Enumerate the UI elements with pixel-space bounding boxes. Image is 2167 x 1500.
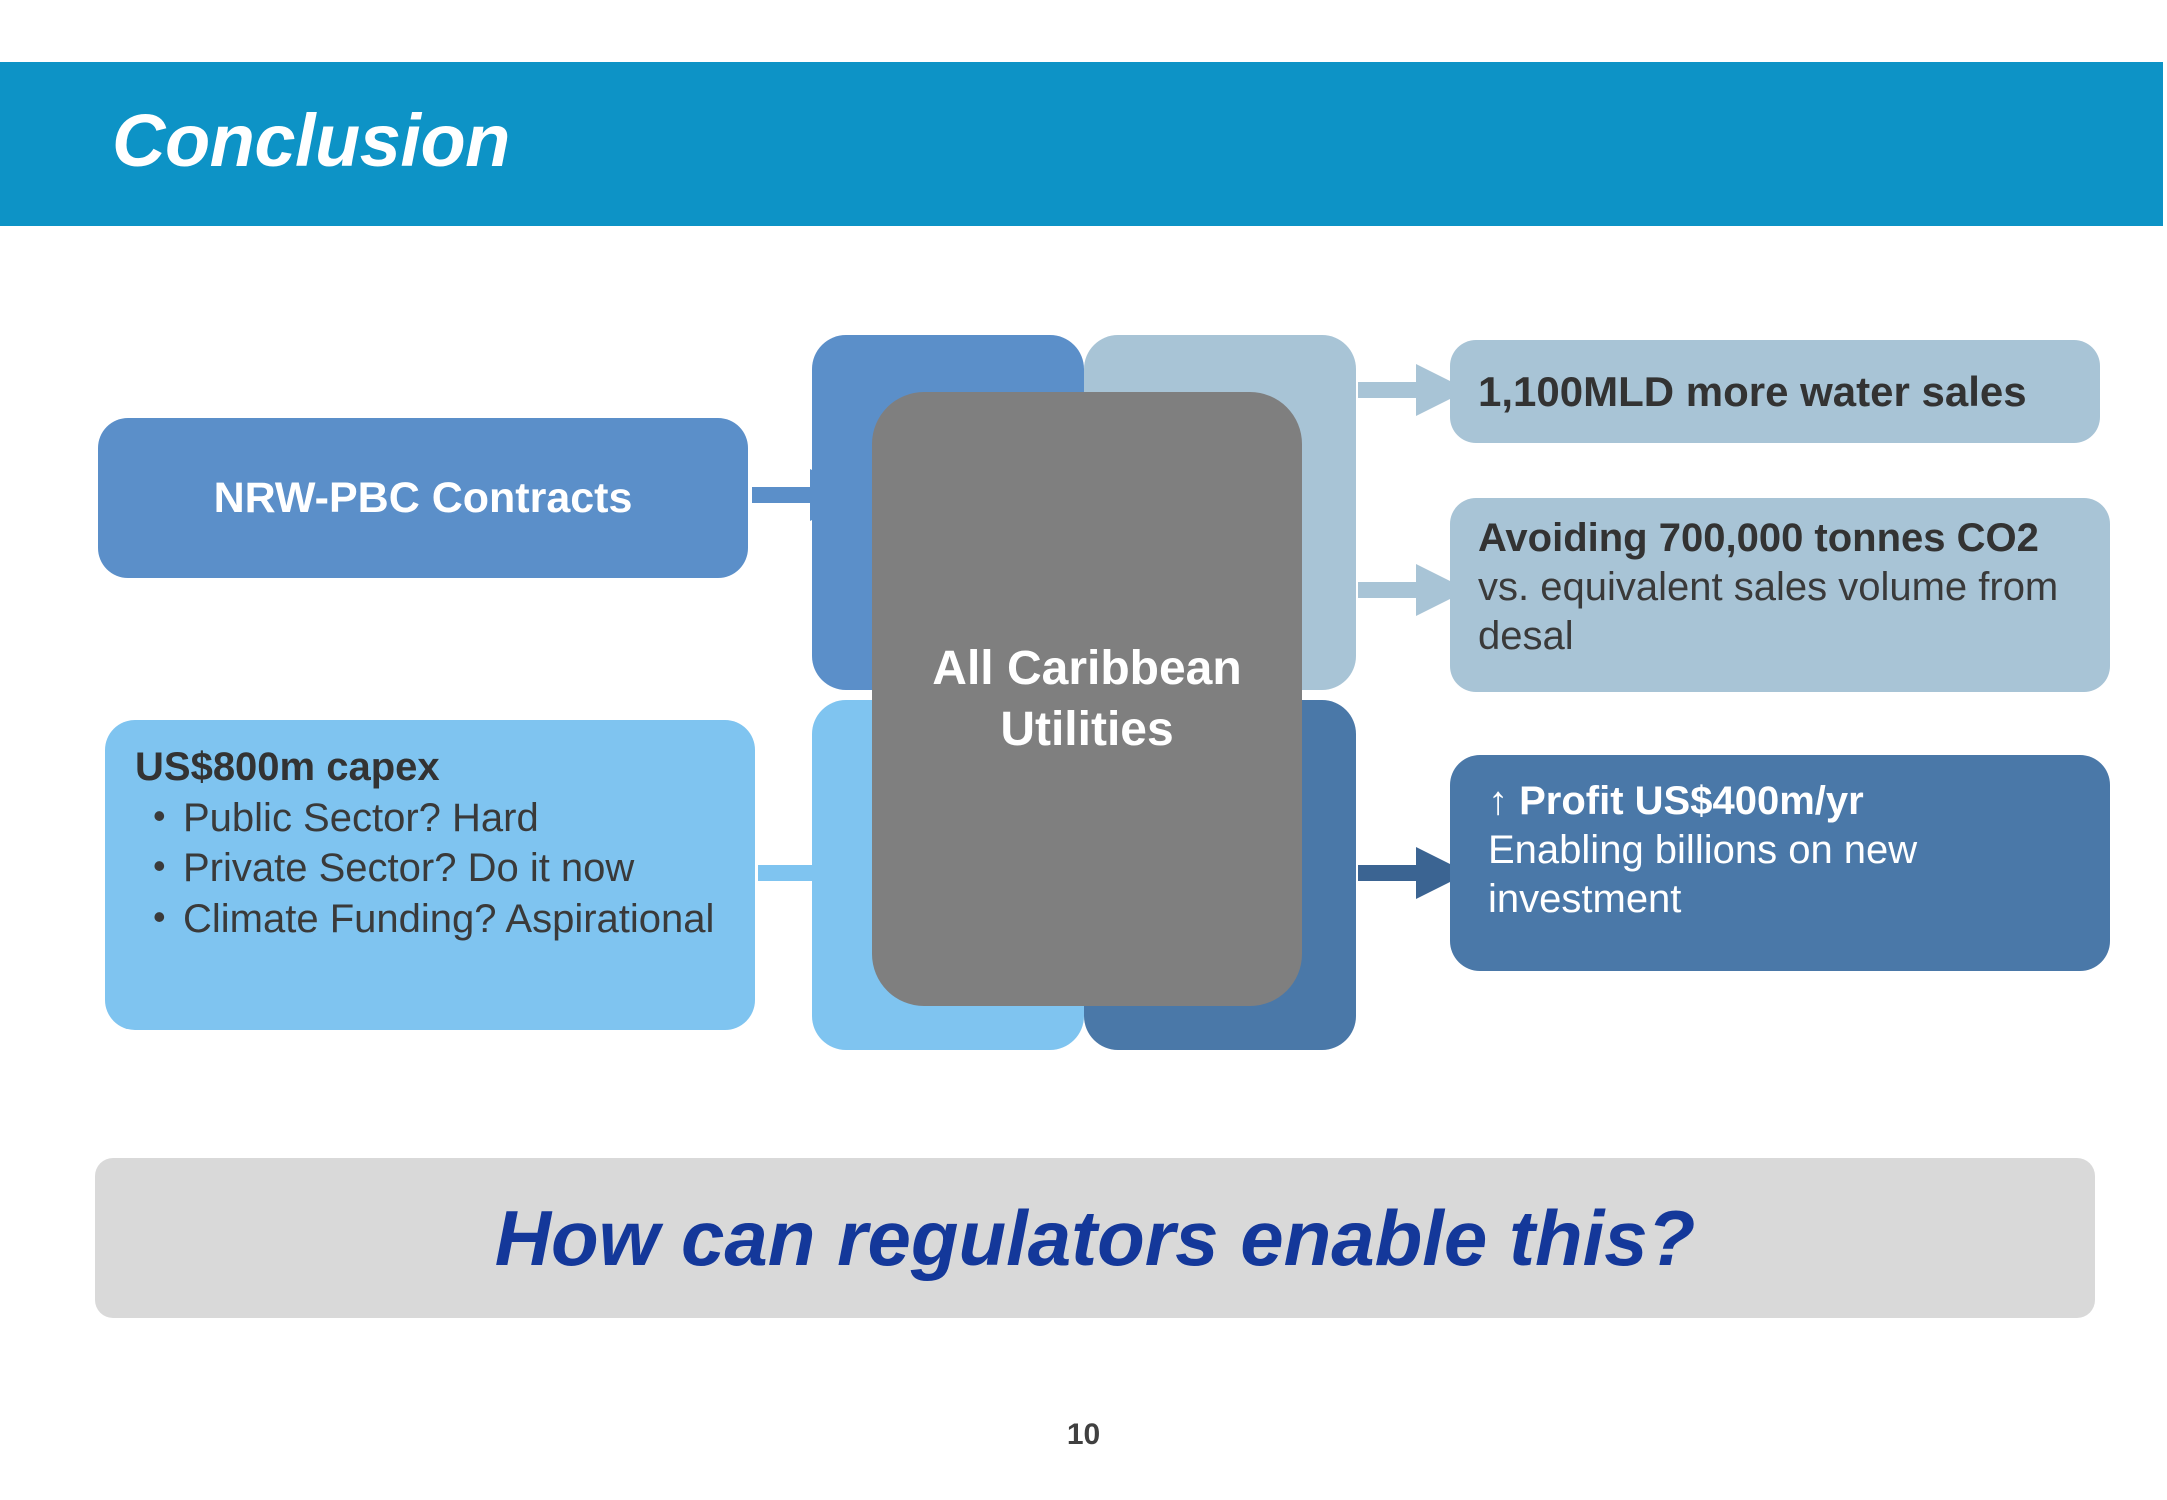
profit-bold-text: ↑ Profit US$400m/yr	[1488, 777, 2088, 826]
title-banner: Conclusion	[0, 62, 2163, 226]
node-capex[interactable]: US$800m capex Public Sector? Hard Privat…	[105, 720, 755, 1030]
co2-normal-text: vs. equivalent sales volume from desal	[1478, 565, 2058, 658]
co2-bold-text: Avoiding 700,000 tonnes CO2	[1478, 516, 2039, 560]
node-nrw-pbc-label: NRW-PBC Contracts	[214, 474, 633, 523]
arrow-stem	[1358, 865, 1420, 881]
node-profit[interactable]: ↑ Profit US$400m/yr Enabling billions on…	[1450, 755, 2110, 971]
node-co2-avoided[interactable]: Avoiding 700,000 tonnes CO2 vs. equivale…	[1450, 498, 2110, 692]
list-item: Public Sector? Hard	[183, 795, 729, 842]
slide-canvas: Conclusion NRW-PBC Contracts US$800m cap…	[0, 0, 2167, 1500]
list-item: Climate Funding? Aspirational	[183, 896, 729, 943]
node-nrw-pbc-contracts[interactable]: NRW-PBC Contracts	[98, 418, 748, 578]
footer-banner: How can regulators enable this?	[95, 1158, 2095, 1318]
node-all-caribbean-utilities[interactable]: All Caribbean Utilities	[872, 392, 1302, 1006]
node-water-sales[interactable]: 1,100MLD more water sales	[1450, 340, 2100, 443]
arrow-stem	[752, 487, 814, 503]
footer-question: How can regulators enable this?	[495, 1193, 1696, 1284]
water-sales-label: 1,100MLD more water sales	[1478, 368, 2027, 416]
capex-heading: US$800m capex	[135, 744, 729, 791]
arrow-stem	[1358, 382, 1420, 398]
list-item: Private Sector? Do it now	[183, 845, 729, 892]
arrow-stem	[758, 865, 820, 881]
profit-normal-text: Enabling billions on new investment	[1488, 826, 2088, 924]
page-title: Conclusion	[112, 98, 510, 183]
co2-text: Avoiding 700,000 tonnes CO2 vs. equivale…	[1478, 514, 2088, 660]
arrow-stem	[1358, 582, 1420, 598]
center-node-label: All Caribbean Utilities	[872, 638, 1302, 761]
page-number: 10	[0, 1418, 2167, 1452]
capex-bullet-list: Public Sector? Hard Private Sector? Do i…	[135, 795, 729, 943]
